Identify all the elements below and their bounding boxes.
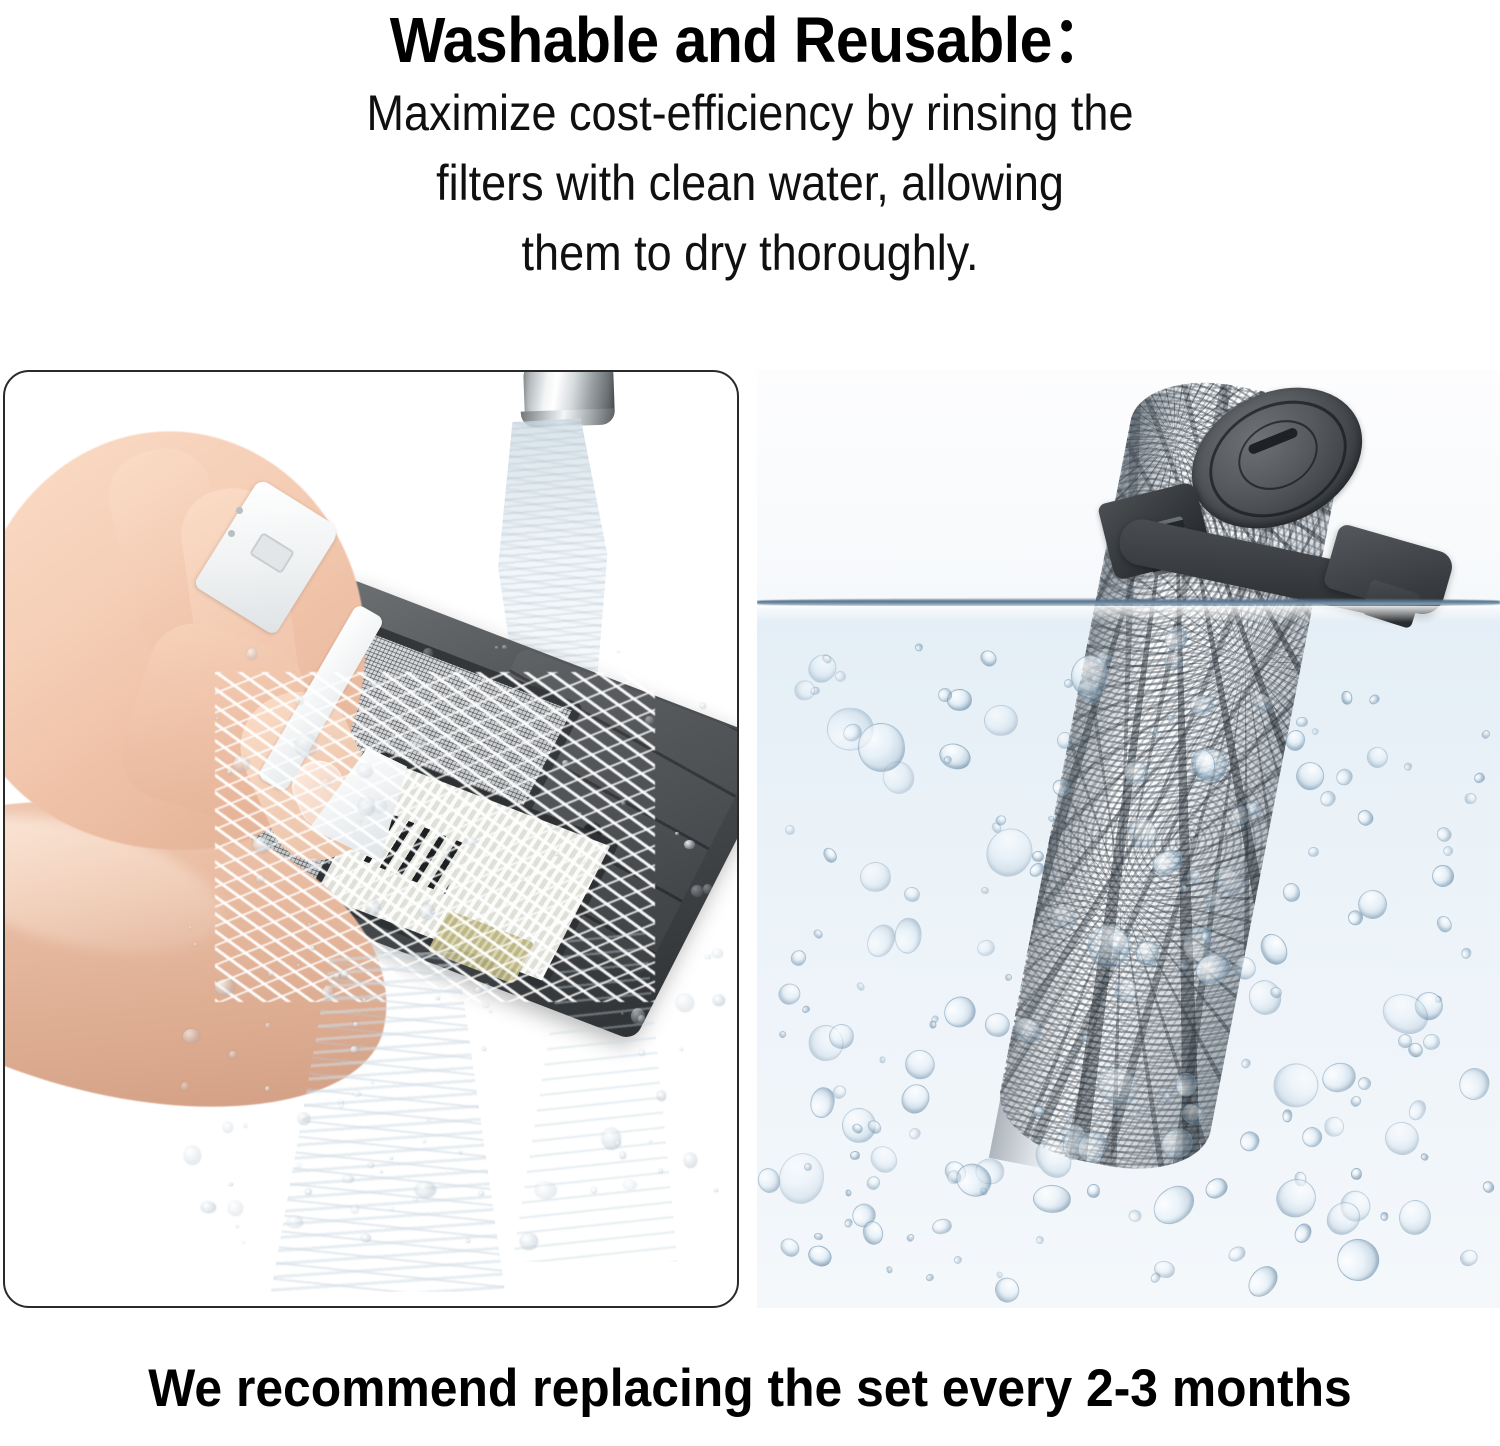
water-droplet bbox=[684, 840, 695, 850]
cleaning-tool-dot bbox=[236, 507, 243, 514]
water-droplet bbox=[489, 1010, 492, 1013]
water-droplet bbox=[562, 760, 569, 766]
water-droplet bbox=[294, 697, 304, 705]
photo-panel-filter-rinsing bbox=[3, 370, 739, 1308]
water-droplet bbox=[482, 1047, 487, 1052]
water-droplet bbox=[621, 1012, 624, 1015]
water-droplet bbox=[181, 1082, 189, 1092]
water-droplet bbox=[620, 1152, 627, 1159]
water-droplet bbox=[532, 973, 535, 976]
air-bubble bbox=[1057, 732, 1073, 749]
water-droplet bbox=[368, 1163, 373, 1169]
subtitle-line-3: them to dry thoroughly. bbox=[75, 218, 1425, 288]
water-droplet bbox=[311, 946, 315, 951]
water-droplet bbox=[201, 1202, 216, 1213]
water-droplet bbox=[361, 1234, 371, 1242]
water-droplet bbox=[414, 1198, 418, 1201]
water-droplet bbox=[615, 1141, 621, 1146]
water-droplet bbox=[183, 1029, 200, 1043]
water-droplet bbox=[223, 1122, 233, 1133]
water-droplet bbox=[353, 1022, 359, 1026]
water-surface-highlight bbox=[757, 606, 1500, 622]
water-droplet bbox=[700, 703, 706, 709]
water-droplet bbox=[244, 1124, 247, 1128]
water-droplet bbox=[712, 949, 723, 958]
water-droplet bbox=[427, 1118, 430, 1121]
water-droplet bbox=[303, 1116, 306, 1120]
water-droplet bbox=[215, 979, 235, 995]
air-bubble bbox=[1086, 1183, 1100, 1198]
water-droplet bbox=[268, 971, 274, 977]
subtitle-line-1: Maximize cost-efficiency by rinsing the bbox=[75, 78, 1425, 148]
water-droplet bbox=[423, 1140, 426, 1143]
left-photo-stage bbox=[5, 372, 737, 1306]
water-droplet bbox=[555, 852, 560, 856]
footer-text-block: We recommend replacing the set every 2-3… bbox=[0, 1358, 1500, 1420]
water-droplet bbox=[308, 858, 321, 868]
water-droplet bbox=[616, 651, 620, 654]
water-droplet bbox=[466, 1239, 470, 1243]
water-droplet bbox=[247, 648, 257, 660]
water-droplet bbox=[334, 973, 341, 979]
water-droplet bbox=[676, 994, 693, 1012]
water-droplet bbox=[714, 1189, 718, 1192]
air-bubble bbox=[980, 886, 989, 894]
water-droplet bbox=[479, 1191, 484, 1196]
air-bubble bbox=[984, 704, 1019, 735]
water-droplet bbox=[502, 645, 507, 649]
water-droplet bbox=[436, 997, 440, 1001]
water-droplet bbox=[591, 1187, 597, 1194]
water-droplet bbox=[265, 1086, 270, 1091]
water-droplet bbox=[353, 1091, 361, 1097]
air-bubble bbox=[850, 1150, 861, 1160]
water-droplet bbox=[341, 970, 349, 978]
water-droplet bbox=[602, 1128, 621, 1150]
water-droplet bbox=[227, 769, 232, 775]
air-bubble bbox=[845, 1189, 852, 1197]
water-droplet bbox=[366, 900, 380, 914]
water-droplet bbox=[358, 798, 375, 815]
water-droplet bbox=[488, 724, 492, 727]
water-droplet bbox=[459, 1151, 462, 1154]
water-droplet bbox=[483, 983, 490, 991]
water-droplet bbox=[657, 1091, 665, 1101]
water-droplet bbox=[390, 1157, 393, 1161]
water-droplet bbox=[297, 964, 300, 967]
water-droplet bbox=[410, 735, 426, 752]
water-droplet bbox=[287, 1216, 302, 1229]
water-droplet bbox=[483, 1003, 489, 1008]
header-text-block: Washable and Reusable： Maximize cost-eff… bbox=[0, 0, 1500, 288]
water-droplet bbox=[432, 911, 435, 914]
water-droplet bbox=[578, 812, 583, 815]
water-droplet bbox=[631, 1008, 645, 1024]
water-droplet bbox=[703, 884, 712, 894]
water-droplet bbox=[552, 826, 556, 830]
water-droplet bbox=[371, 680, 377, 685]
water-droplet bbox=[295, 734, 317, 757]
water-droplet bbox=[236, 1225, 239, 1229]
water-droplet bbox=[193, 943, 198, 946]
water-droplet bbox=[474, 987, 483, 993]
subtitle-line-2: filters with clean water, allowing bbox=[75, 148, 1425, 218]
water-droplet bbox=[371, 1080, 374, 1083]
air-bubble bbox=[1380, 1211, 1389, 1220]
water-droplet bbox=[322, 986, 334, 999]
water-droplet bbox=[343, 1175, 355, 1183]
water-droplet bbox=[256, 875, 265, 883]
water-droplet bbox=[535, 1182, 557, 1199]
replacement-note: We recommend replacing the set every 2-3… bbox=[45, 1358, 1455, 1420]
water-droplet bbox=[184, 1146, 201, 1165]
page-title: Washable and Reusable： bbox=[60, 2, 1440, 78]
water-droplet bbox=[242, 1241, 245, 1244]
water-droplet bbox=[659, 1169, 663, 1173]
water-droplet bbox=[328, 862, 331, 864]
water-droplet bbox=[380, 1171, 383, 1173]
water-droplet bbox=[684, 1153, 698, 1168]
photo-panel-row bbox=[0, 370, 1500, 1312]
water-droplet bbox=[705, 955, 711, 959]
water-droplet bbox=[495, 646, 498, 649]
water-droplet bbox=[265, 1023, 270, 1029]
water-droplet bbox=[623, 1180, 637, 1190]
water-droplet bbox=[339, 1103, 344, 1108]
water-droplet bbox=[680, 1048, 683, 1051]
water-droplet bbox=[228, 1201, 244, 1216]
air-bubble bbox=[1032, 1184, 1071, 1213]
water-droplet bbox=[321, 778, 330, 788]
air-bubble bbox=[1403, 762, 1412, 771]
water-droplet bbox=[713, 995, 725, 1006]
water-droplet bbox=[229, 1183, 233, 1186]
water-droplet bbox=[297, 1163, 302, 1168]
photo-panel-roller-soaking bbox=[757, 370, 1500, 1308]
water-droplet bbox=[443, 850, 450, 857]
water-droplet bbox=[373, 865, 377, 868]
water-droplet bbox=[621, 801, 627, 805]
cleaning-tool-dot bbox=[228, 530, 235, 537]
